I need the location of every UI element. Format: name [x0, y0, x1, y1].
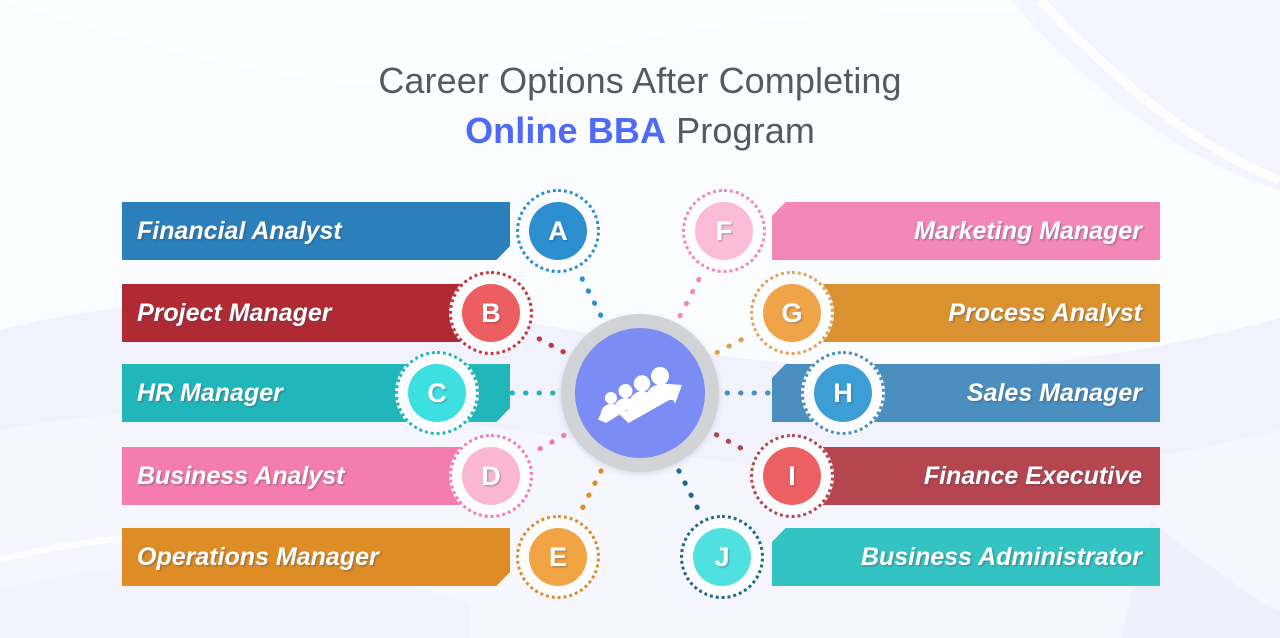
connector-e [579, 471, 601, 515]
badge-letter: A [548, 218, 568, 245]
page-title: Career Options After Completing Online B… [0, 56, 1280, 156]
career-bar-label: Business Administrator [861, 543, 1142, 572]
badge-letter: D [481, 463, 501, 490]
career-bar-marketing-manager[interactable]: Marketing Manager [772, 202, 1160, 260]
badge-disc: G [763, 284, 821, 342]
badge-letter: G [781, 300, 802, 327]
title-line-2: Online BBA Program [0, 106, 1280, 156]
badge-letter: C [427, 380, 447, 407]
badge-letter: H [833, 380, 853, 407]
connector-b [532, 335, 563, 352]
badge-i[interactable]: I [750, 434, 834, 518]
career-bar-label: HR Manager [137, 379, 283, 408]
career-bar-operations-manager[interactable]: Operations Manager [122, 528, 510, 586]
badge-b[interactable]: B [449, 271, 533, 355]
connector-d [532, 435, 564, 453]
connector-a [579, 273, 600, 315]
badge-disc: B [462, 284, 520, 342]
career-bar-label: Finance Executive [924, 462, 1142, 491]
badge-disc: I [763, 447, 821, 505]
badge-letter: I [788, 463, 796, 490]
badge-a[interactable]: A [516, 189, 600, 273]
career-bar-label: Project Manager [137, 299, 332, 328]
badge-g[interactable]: G [750, 271, 834, 355]
badge-disc: F [695, 202, 753, 260]
badge-e[interactable]: E [516, 515, 600, 599]
badge-d[interactable]: D [449, 434, 533, 518]
career-bar-label: Process Analyst [948, 299, 1142, 328]
badge-f[interactable]: F [682, 189, 766, 273]
connector-i [716, 435, 750, 454]
connector-j [679, 471, 701, 515]
badge-letter: F [716, 218, 733, 245]
badge-disc: J [693, 528, 751, 586]
badge-disc: A [529, 202, 587, 260]
badge-disc: C [408, 364, 466, 422]
badge-h[interactable]: H [801, 351, 885, 435]
badge-letter: E [549, 544, 567, 571]
career-bar-label: Business Analyst [137, 462, 344, 491]
career-bar-label: Marketing Manager [914, 217, 1142, 246]
career-bar-business-administrator[interactable]: Business Administrator [772, 528, 1160, 586]
people-growth-arrow-icon [592, 357, 688, 429]
career-bar-label: Operations Manager [137, 543, 379, 572]
title-tail: Program [666, 110, 815, 151]
career-bar-label: Financial Analyst [137, 217, 342, 246]
badge-disc: E [529, 528, 587, 586]
badge-c[interactable]: C [395, 351, 479, 435]
career-bar-label: Sales Manager [967, 379, 1142, 408]
center-hub-circle [575, 328, 705, 458]
badge-letter: B [481, 300, 501, 327]
center-hub [561, 314, 719, 472]
connector-g [717, 335, 750, 353]
badge-disc: H [814, 364, 872, 422]
title-line-1: Career Options After Completing [0, 56, 1280, 106]
badge-disc: D [462, 447, 520, 505]
career-bar-financial-analyst[interactable]: Financial Analyst [122, 202, 510, 260]
badge-j[interactable]: J [680, 515, 764, 599]
title-accent: Online BBA [465, 110, 666, 151]
badge-letter: J [714, 544, 729, 571]
connector-f [680, 273, 702, 316]
